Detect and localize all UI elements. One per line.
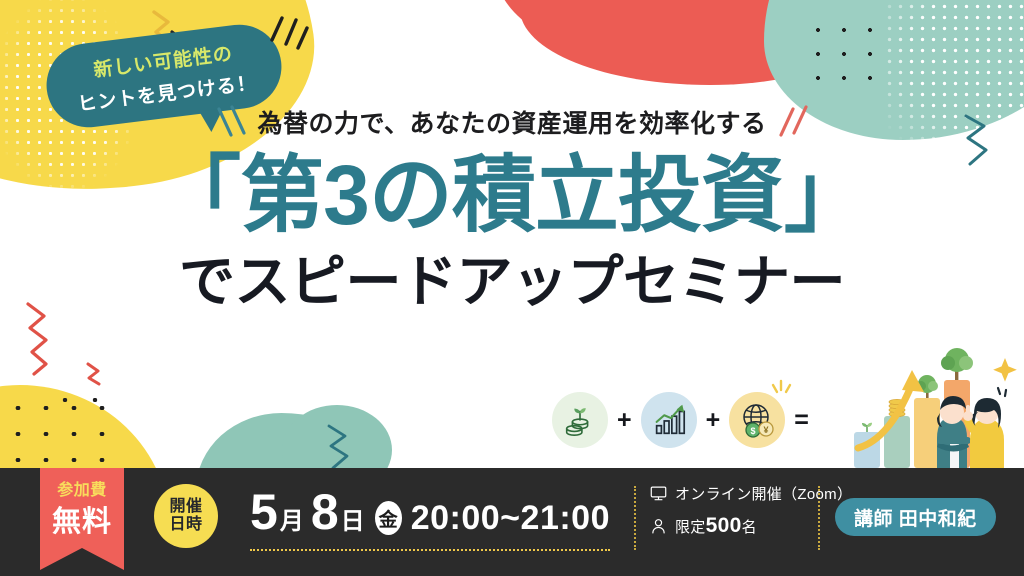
red-blob-top-b: [520, 0, 900, 85]
day-unit: 日: [341, 510, 365, 534]
speaker-badge: 講師 田中和紀: [835, 498, 996, 536]
operator-plus-1: +: [617, 408, 632, 433]
capacity-number: 500: [706, 514, 742, 537]
globe-currency-icon: $ ¥: [729, 392, 785, 448]
coins-plant-icon: [552, 392, 608, 448]
online-label: オンライン開催（Zoom）: [675, 483, 852, 504]
fee-value: 無料: [40, 498, 124, 540]
red-blob-top-a: [494, 0, 734, 50]
sparkle-small-icon: [769, 378, 795, 402]
fee-label: 参加費: [40, 476, 124, 500]
title-line-1-wrap: 「第3の積立投資」: [157, 150, 867, 241]
capacity-prefix: 限定: [675, 519, 706, 536]
capacity-suffix: 名: [742, 519, 757, 536]
weekday-badge: 金: [375, 501, 402, 535]
bar-chart-growth-icon: [641, 392, 697, 448]
seminar-banner: 新しい可能性の ヒントを見つける！ 為替の力で、あなたの資産運用を効率化する 「…: [0, 0, 1024, 576]
person-icon: [650, 518, 667, 535]
subtitle-row: 為替の力で、あなたの資産運用を効率化する: [0, 104, 1024, 140]
date-badge: 開催 日時: [154, 484, 218, 548]
day-number: 8: [311, 487, 339, 537]
dot-grid-top: [805, 18, 885, 80]
operator-plus-2: +: [706, 408, 721, 433]
title-line-1: 「第3の積立投資」: [157, 148, 867, 242]
info-row-capacity: 限定500名: [650, 514, 852, 538]
slash-left-icon: [215, 105, 247, 139]
date-badge-line-1: 開催: [169, 498, 202, 516]
date-badge-line-2: 日時: [169, 516, 202, 534]
dot-grid-left-upper: [50, 386, 112, 422]
growth-chart-people-illustration: [846, 336, 1024, 476]
month-unit: 月: [280, 510, 304, 534]
fee-ribbon: 参加費 無料: [40, 468, 124, 548]
title-line-2-wrap: でスピードアップセミナー: [179, 251, 845, 313]
title-block: 「第3の積立投資」 でスピードアップセミナー: [0, 150, 1024, 312]
svg-text:¥: ¥: [764, 425, 769, 435]
svg-text:$: $: [751, 426, 756, 436]
month-number: 5: [250, 487, 278, 537]
concept-equation-row: + +: [552, 392, 809, 448]
divider-left: [634, 486, 636, 550]
title-line-2: でスピードアップセミナー: [179, 250, 845, 313]
operator-equals: =: [794, 408, 809, 433]
event-time: 20:00~21:00: [411, 501, 610, 535]
subtitle: 為替の力で、あなたの資産運用を効率化する: [257, 104, 766, 140]
info-row-online: オンライン開催（Zoom）: [650, 483, 852, 504]
zigzag-red-small-icon: [84, 360, 108, 388]
event-date: 5 月 8 日 金 20:00~21:00: [250, 487, 610, 551]
event-info-block: オンライン開催（Zoom） 限定500名: [650, 483, 852, 548]
monitor-icon: [650, 485, 667, 502]
capacity-label: 限定500名: [675, 514, 757, 538]
slash-right-icon: [777, 105, 809, 139]
